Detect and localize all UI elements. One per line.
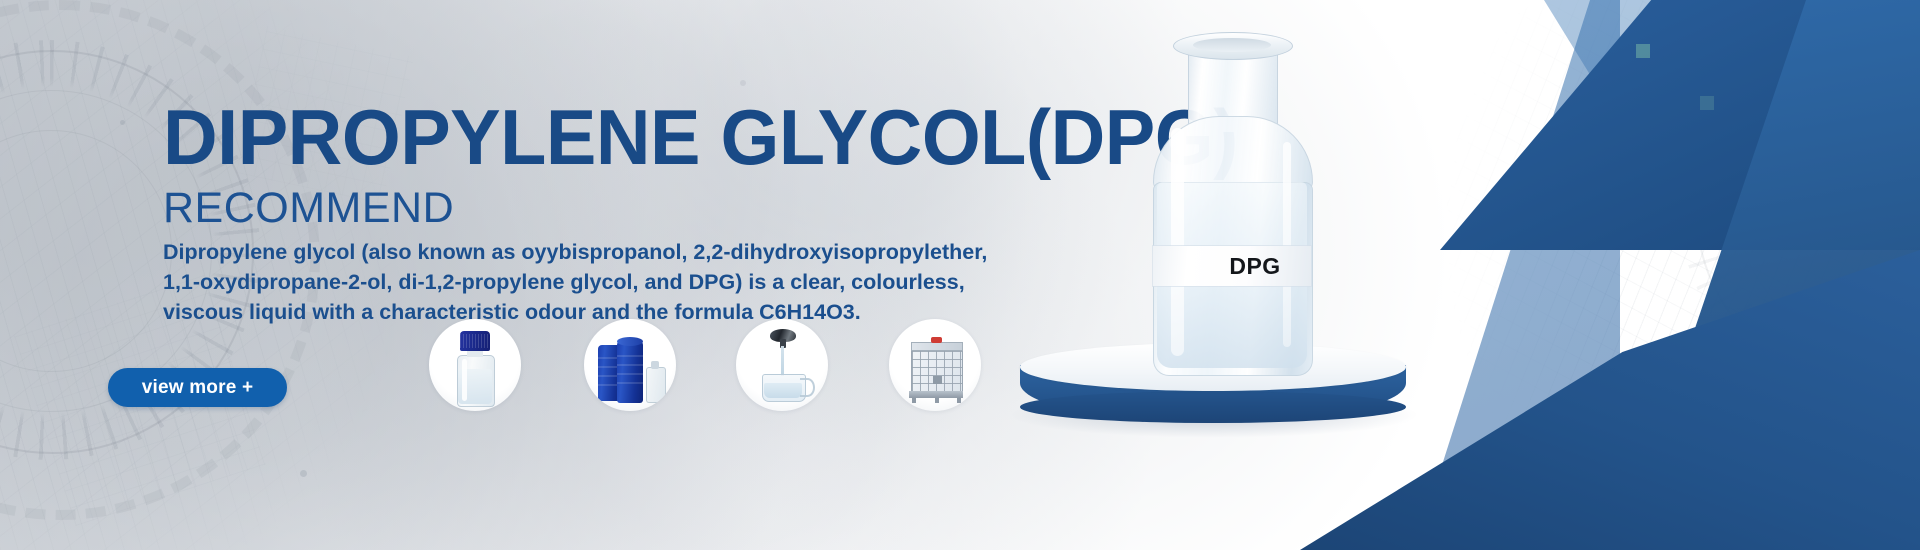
bottle-cap-shape [460, 331, 490, 351]
background-dot-a [300, 470, 307, 477]
bottle-label: DPG [1153, 246, 1311, 286]
tote-leg-left [912, 398, 916, 403]
tote-cage-shape [911, 347, 963, 393]
bottle-highlight-left [1171, 128, 1184, 356]
blue-shape-right-wedge [1620, 0, 1920, 550]
tote-top-shape [911, 342, 963, 351]
accent-chip-a [1636, 44, 1650, 58]
hero-dpg-bottle: DPG [1145, 32, 1317, 372]
product-hero-banner: DIPROPYLENE GLYCOL(DPG) RECOMMEND Diprop… [0, 0, 1920, 550]
clear-bottle-icon [429, 319, 521, 411]
background-technical-hatch-right [1400, 0, 1920, 550]
tote-leg-right [957, 398, 961, 403]
bottle-label-text: DPG [1183, 253, 1280, 280]
tote-valve-shape [933, 376, 942, 384]
bottle-highlight-right [1283, 142, 1291, 347]
bottle-mouth [1193, 38, 1271, 52]
blue-shape-diagonal [1370, 0, 1620, 550]
bottle-highlight-shape [462, 359, 467, 401]
background-ring-right-inner [1738, 80, 1920, 342]
background-ring-left-inner [0, 130, 172, 372]
description-line-2: 1,1-oxydipropane-2-ol, di-1,2-propylene … [163, 267, 1043, 297]
thumbnail-pouring-liquid[interactable] [736, 319, 828, 411]
subtitle-recommend: RECOMMEND [163, 187, 454, 230]
tote-leg-mid [935, 398, 939, 403]
thumbnail-blue-drums[interactable] [584, 319, 676, 411]
background-dot-c [740, 80, 746, 86]
glass-handle-shape [800, 378, 815, 397]
blue-shape-top-corner [1440, 0, 1920, 250]
ibc-tote-icon [889, 319, 981, 411]
description-line-1: Dipropylene glycol (also known as oyybis… [163, 237, 1043, 267]
background-ring-right-outer [1696, 40, 1920, 384]
thumbnail-clear-bottle-blue-cap[interactable] [429, 319, 521, 411]
thumbnail-ibc-tote-tank[interactable] [889, 319, 981, 411]
drum-right-shape [617, 341, 643, 403]
tote-pallet-shape [909, 391, 963, 398]
blue-drums-icon [584, 319, 676, 411]
accent-chip-b [1700, 96, 1714, 110]
background-dot-b [120, 120, 125, 125]
pouring-liquid-icon [736, 319, 828, 411]
glass-liquid-shape [764, 383, 802, 398]
podium-front-shape [1020, 391, 1406, 423]
view-more-button[interactable]: view more + [108, 368, 287, 407]
small-bottle-cap-shape [651, 361, 659, 369]
tote-lid-shape [931, 337, 942, 343]
background-gear-spokes-right [1680, 20, 1920, 400]
product-description: Dipropylene glycol (also known as oyybis… [163, 237, 1043, 327]
page-title: DIPROPYLENE GLYCOL(DPG) [163, 98, 1238, 176]
liquid-stream-shape [781, 346, 784, 376]
drum-top-shape [617, 337, 643, 346]
small-bottle-shape [646, 367, 666, 403]
